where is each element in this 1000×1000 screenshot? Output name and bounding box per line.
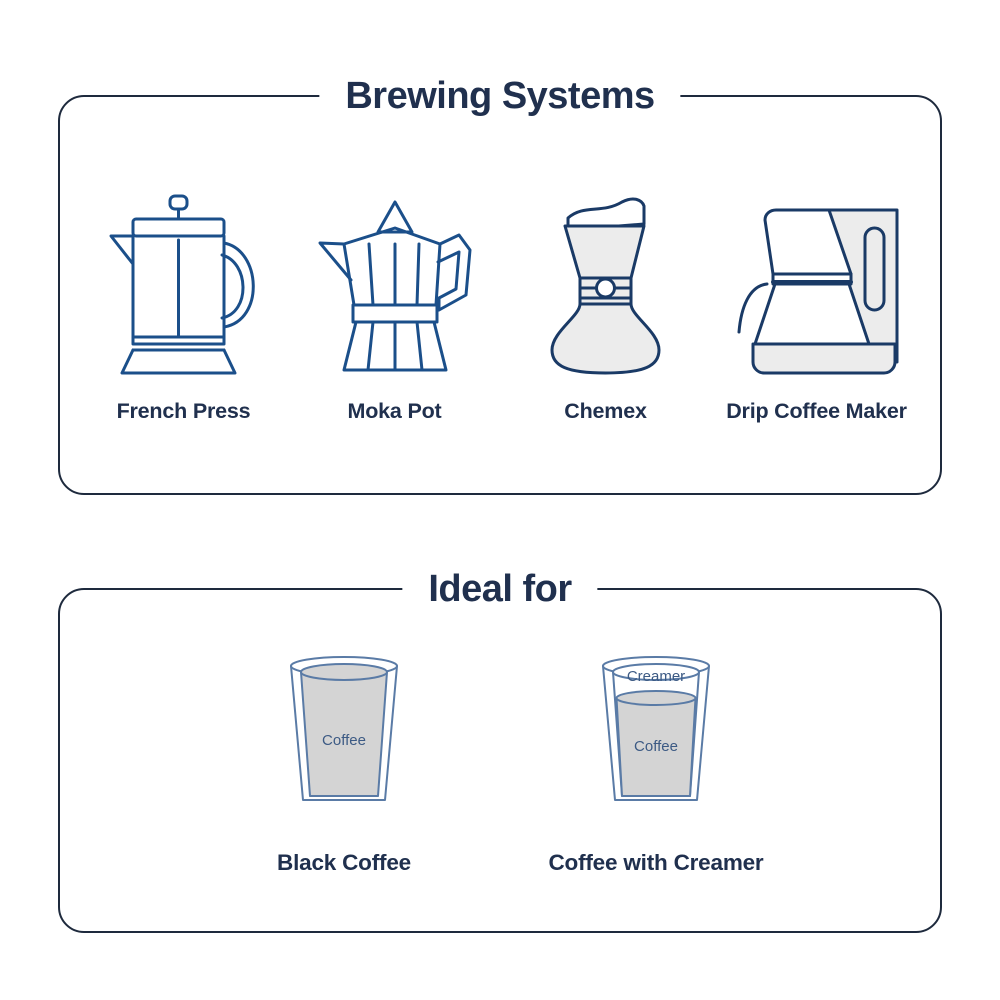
chemex-icon (536, 192, 676, 377)
coffee-with-creamer-art: Creamer Coffee (591, 635, 721, 810)
brewing-item-label-drip-coffee-maker: Drip Coffee Maker (726, 399, 907, 424)
moka-pot-art (320, 177, 470, 377)
ideal-item-coffee-with-creamer[interactable]: Creamer Coffee Coffee with Creamer (500, 635, 812, 876)
black-coffee-cup-icon: Coffee (279, 650, 409, 810)
creamer-layer-label: Creamer (627, 668, 685, 685)
brewing-systems-title: Brewing Systems (319, 70, 680, 122)
drip-coffee-maker-art (729, 177, 904, 377)
brewing-systems-card: Brewing Systems (58, 95, 942, 495)
ideal-for-item-row: Coffee Black Coffee (60, 635, 940, 876)
moka-pot-icon (320, 192, 470, 377)
ideal-item-black-coffee[interactable]: Coffee Black Coffee (188, 635, 500, 876)
brewing-item-label-moka-pot: Moka Pot (348, 399, 442, 424)
french-press-icon (109, 192, 259, 377)
brewing-item-moka-pot[interactable]: Moka Pot (289, 177, 500, 424)
drip-coffee-maker-icon (729, 192, 904, 377)
ideal-item-label-coffee-with-creamer: Coffee with Creamer (548, 850, 763, 876)
ideal-for-title: Ideal for (402, 563, 597, 615)
coffee-layer-label: Coffee (634, 738, 678, 755)
brewing-item-french-press[interactable]: French Press (78, 177, 289, 424)
ideal-for-card: Ideal for Coffee (58, 588, 942, 933)
ideal-item-label-black-coffee: Black Coffee (277, 850, 411, 876)
infographic-page: Brewing Systems (0, 0, 1000, 1000)
brewing-item-label-french-press: French Press (117, 399, 251, 424)
brewing-item-chemex[interactable]: Chemex (500, 177, 711, 424)
french-press-art (109, 177, 259, 377)
coffee-with-creamer-cup-icon: Creamer Coffee (591, 650, 721, 810)
brewing-item-drip-coffee-maker[interactable]: Drip Coffee Maker (711, 177, 922, 424)
chemex-art (536, 177, 676, 377)
black-coffee-art: Coffee (279, 635, 409, 810)
brewing-item-label-chemex: Chemex (564, 399, 646, 424)
brewing-systems-item-row: French Press (60, 177, 940, 424)
black-coffee-layer-label: Coffee (322, 732, 366, 749)
